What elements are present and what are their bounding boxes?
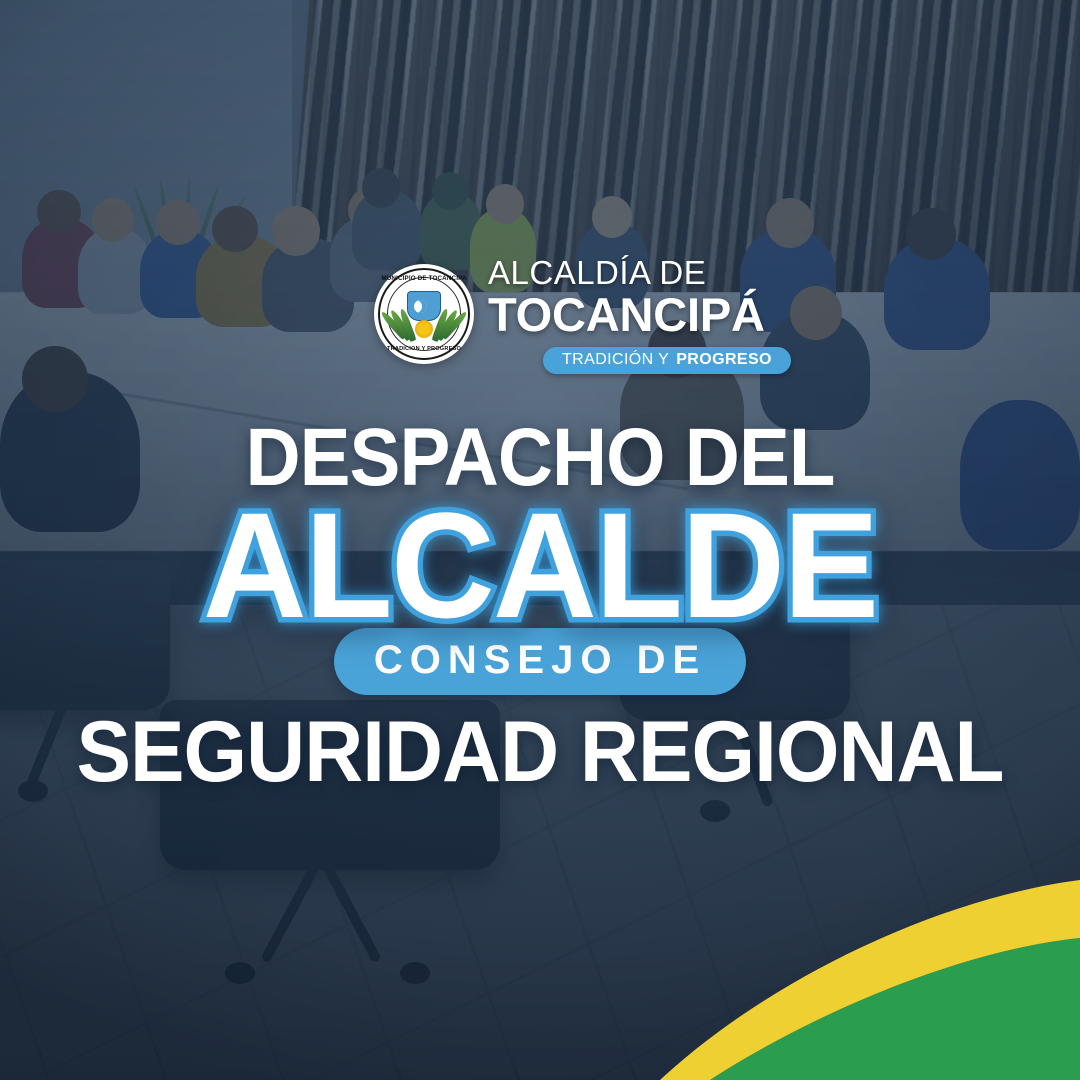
headline-seguridad-regional: SEGURIDAD REGIONAL bbox=[27, 709, 1053, 795]
crest-top-text: MUNICIPIO DE TOCANCIPA bbox=[374, 275, 474, 282]
crest-moon-icon bbox=[414, 300, 427, 313]
crest-shield bbox=[407, 291, 441, 321]
crest-sun-icon bbox=[415, 320, 433, 338]
tagline-light-text: TRADICIÓN Y bbox=[562, 351, 669, 368]
crest-bottom-text: TRADICION Y PROGRESO bbox=[374, 346, 474, 352]
tagline-bold-text: PROGRESO bbox=[676, 351, 772, 368]
headline-block: DESPACHO DEL ALCALDE CONSEJO DE SEGURIDA… bbox=[0, 418, 1080, 795]
brand-line-alcaldia: ALCALDÍA DE bbox=[488, 256, 791, 289]
poster-canvas: MUNICIPIO DE TOCANCIPA TRADICION Y PROGR… bbox=[0, 0, 1080, 1080]
brand-line-tocancipa: TOCANCIPÁ bbox=[488, 291, 791, 338]
brand-tagline-pill: TRADICIÓN YPROGRESO bbox=[543, 347, 791, 374]
brand-wordmark: ALCALDÍA DE TOCANCIPÁ TRADICIÓN YPROGRES… bbox=[488, 254, 791, 374]
headline-alcalde: ALCALDE bbox=[22, 496, 1059, 634]
municipal-crest-icon: MUNICIPIO DE TOCANCIPA TRADICION Y PROGR… bbox=[374, 264, 474, 364]
brand-lockup: MUNICIPIO DE TOCANCIPA TRADICION Y PROGR… bbox=[374, 254, 791, 374]
